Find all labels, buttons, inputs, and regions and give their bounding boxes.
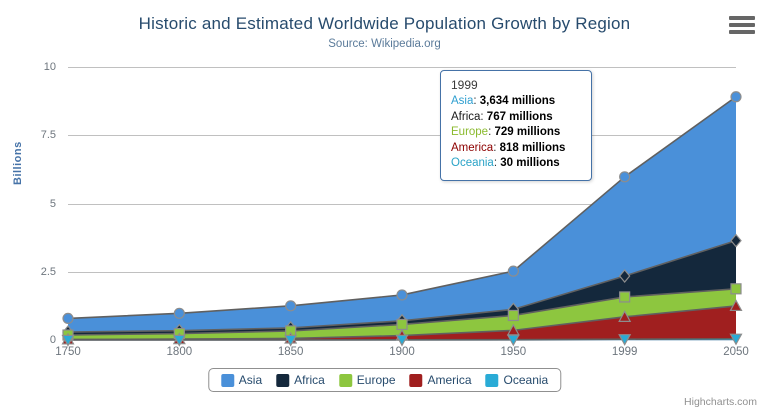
tooltip-row-oceania: Oceania: 30 millions — [451, 156, 581, 172]
x-tick-label-1900: 1900 — [389, 346, 415, 358]
tooltip-series-name: Europe — [451, 126, 488, 138]
point-asia-1950[interactable] — [508, 266, 518, 276]
series-layer — [68, 67, 736, 340]
x-tick-label-1750: 1750 — [55, 346, 81, 358]
y-tick-label-2.5: 2.5 — [10, 266, 56, 278]
x-tick-label-2050: 2050 — [723, 346, 749, 358]
legend-item-africa[interactable]: Africa — [276, 373, 325, 387]
legend-label-america: America — [428, 373, 472, 387]
x-tick-label-1950: 1950 — [501, 346, 527, 358]
chart-container: Historic and Estimated Worldwide Populat… — [0, 0, 769, 416]
point-asia-1999[interactable] — [620, 172, 630, 182]
plot-area — [68, 67, 736, 340]
point-europe-1900[interactable] — [397, 319, 407, 329]
y-tick-label-0: 0 — [10, 334, 56, 346]
highcharts-credit[interactable]: Highcharts.com — [684, 396, 757, 408]
point-asia-1750[interactable] — [63, 313, 73, 323]
point-asia-1800[interactable] — [174, 308, 184, 318]
y-axis-title: Billions — [12, 141, 24, 185]
tooltip-series-name: Africa — [451, 111, 480, 123]
y-tick-label-10: 10 — [10, 61, 56, 73]
legend-item-oceania[interactable]: Oceania — [486, 373, 549, 387]
legend-label-asia: Asia — [239, 373, 262, 387]
tooltip-header: 1999 — [451, 78, 581, 92]
legend-swatch-america — [410, 374, 423, 387]
legend-swatch-oceania — [486, 374, 499, 387]
tooltip-row-america: America: 818 millions — [451, 141, 581, 157]
point-europe-1999[interactable] — [620, 292, 630, 302]
tooltip-series-value: 818 millions — [500, 142, 566, 154]
point-europe-2050[interactable] — [731, 284, 741, 294]
legend-label-africa: Africa — [294, 373, 325, 387]
legend-swatch-europe — [339, 374, 352, 387]
tooltip-series-value: 3,634 millions — [480, 95, 555, 107]
hamburger-menu-icon[interactable] — [729, 16, 755, 34]
tooltip-series-name: Asia — [451, 95, 473, 107]
legend-item-europe[interactable]: Europe — [339, 373, 396, 387]
chart-subtitle: Source: Wikipedia.org — [0, 38, 769, 50]
tooltip-row-europe: Europe: 729 millions — [451, 125, 581, 141]
x-tick-label-1800: 1800 — [167, 346, 193, 358]
point-asia-1850[interactable] — [286, 301, 296, 311]
point-asia-2050[interactable] — [731, 92, 741, 102]
legend[interactable]: Asia Africa Europe America Oceania — [208, 368, 561, 392]
menu-bar-1 — [729, 16, 755, 20]
x-tick-label-1850: 1850 — [278, 346, 304, 358]
tooltip-row-asia: Asia: 3,634 millions — [451, 94, 581, 110]
legend-swatch-africa — [276, 374, 289, 387]
tooltip-series-value: 30 millions — [500, 157, 559, 169]
y-tick-label-5: 5 — [10, 198, 56, 210]
tooltip-series-name: Oceania — [451, 157, 494, 169]
point-asia-1900[interactable] — [397, 290, 407, 300]
point-europe-1950[interactable] — [508, 310, 518, 320]
legend-item-asia[interactable]: Asia — [221, 373, 262, 387]
legend-label-oceania: Oceania — [504, 373, 549, 387]
tooltip-series-value: 767 millions — [487, 111, 553, 123]
legend-item-america[interactable]: America — [410, 373, 472, 387]
tooltip: 1999 Asia: 3,634 millionsAfrica: 767 mil… — [440, 70, 592, 181]
y-tick-label-7.5: 7.5 — [10, 129, 56, 141]
tooltip-row-africa: Africa: 767 millions — [451, 110, 581, 126]
x-tick-label-1999: 1999 — [612, 346, 638, 358]
tooltip-series-name: America — [451, 142, 493, 154]
chart-title: Historic and Estimated Worldwide Populat… — [0, 14, 769, 34]
menu-bar-2 — [729, 23, 755, 27]
legend-swatch-asia — [221, 374, 234, 387]
menu-bar-3 — [729, 30, 755, 34]
tooltip-rows: Asia: 3,634 millionsAfrica: 767 millions… — [451, 94, 581, 172]
tooltip-series-value: 729 millions — [494, 126, 560, 138]
legend-label-europe: Europe — [357, 373, 396, 387]
